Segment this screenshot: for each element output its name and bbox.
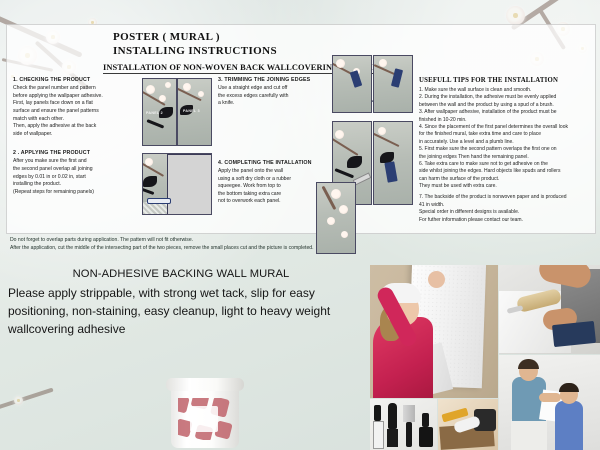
tool-blade bbox=[387, 429, 398, 447]
bird-decor bbox=[347, 156, 362, 168]
step-1-body: Check the panel number and pattern befor… bbox=[13, 85, 146, 138]
tool-handle bbox=[374, 405, 381, 421]
photo-collage bbox=[370, 265, 600, 450]
step-1-line: Then, apply the adhesive at the back bbox=[13, 123, 146, 131]
photo-man-arm bbox=[539, 393, 561, 402]
step-4: 4. COMPLETING THE INTALLATION Apply the … bbox=[218, 160, 330, 206]
step-4-heading: 4. COMPLETING THE INTALLATION bbox=[218, 160, 330, 166]
label-white-band bbox=[190, 406, 218, 432]
column-middle: 3. TRIMMING THE JOINING EDGES Use a stra… bbox=[218, 77, 330, 206]
tip-line: 7. The backside of the product is nonwov… bbox=[419, 194, 599, 201]
mural-art: PANEL 2 bbox=[143, 79, 176, 145]
bird-tail-decor bbox=[146, 119, 164, 129]
tip-line: Special order in different designs is av… bbox=[419, 209, 599, 216]
bucket-label bbox=[178, 398, 232, 440]
gray-panel-overlay bbox=[167, 154, 212, 215]
step-2-body: After you make sure the first and the se… bbox=[13, 158, 146, 196]
mural-art: PANEL 3 bbox=[178, 79, 211, 145]
tool-handle bbox=[422, 413, 429, 427]
tip-line: side whilst joining the edges. Hard obje… bbox=[419, 168, 599, 175]
tip-line: For futher information please contact ou… bbox=[419, 217, 599, 224]
step-2-line: (Repeat steps for remaining panels) bbox=[13, 189, 146, 197]
promo-heading: NON-ADHESIVE BACKING WALL MURAL bbox=[8, 268, 368, 280]
bird-decor bbox=[143, 176, 157, 187]
tip-line: between the wall and the product by usin… bbox=[419, 102, 599, 109]
photo-installation-tools bbox=[370, 399, 437, 450]
branch-decor bbox=[0, 388, 54, 410]
step-4-line: squeegee. Work from top to bbox=[218, 183, 330, 191]
step-4-line: the bottom taking extra care bbox=[218, 191, 330, 199]
step-4-line: Apply the panel onto the wall bbox=[218, 168, 330, 176]
blossom-decor bbox=[331, 189, 341, 199]
tip-5: 5. First make sure the second pattern ov… bbox=[419, 146, 599, 161]
photo-child-torso bbox=[555, 401, 583, 450]
tip-line: finished in 10-20 min. bbox=[419, 117, 599, 124]
sheet-columns: 1. CHECKING THE PRODUCT Check the panel … bbox=[7, 77, 595, 233]
bird-tail-decor bbox=[334, 168, 354, 178]
step-3-heading: 3. TRIMMING THE JOINING EDGES bbox=[218, 77, 330, 83]
panel-label: PANEL 2 bbox=[146, 111, 163, 115]
tip-line: 1. Make sure the wall surface is clean a… bbox=[419, 87, 599, 94]
branch-decor bbox=[332, 136, 358, 156]
tip-line: 5. First make sure the second pattern ov… bbox=[419, 146, 599, 153]
tool-putty-knife-icon bbox=[403, 405, 415, 447]
step-1-line: before applying the wallpaper adhesive. bbox=[13, 93, 146, 101]
step-2-line: edges by 0.01 in or 0.02 in, start bbox=[13, 174, 146, 182]
blossom-decor bbox=[165, 82, 171, 88]
step-1: 1. CHECKING THE PRODUCT Check the panel … bbox=[13, 77, 146, 138]
tip-line: the joining edges Then hand the remainin… bbox=[419, 154, 599, 161]
photo-hands-with-paint-roller bbox=[499, 265, 600, 354]
illustration-applying-product bbox=[142, 153, 212, 215]
promo-line: Please apply strippable, with strong wet… bbox=[8, 284, 368, 302]
step-4-body: Apply the panel onto the wall using a so… bbox=[218, 168, 330, 206]
blossom-decor bbox=[183, 83, 191, 91]
bucket-lid bbox=[166, 378, 244, 391]
blossom-decor bbox=[198, 91, 204, 97]
tool-scraper-icon bbox=[387, 403, 398, 447]
step-4-line: not to overwork each panel. bbox=[218, 198, 330, 206]
tips-heading: USEFULL TIPS FOR THE INSTALLATION bbox=[419, 77, 599, 84]
column-right-tips: USEFULL TIPS FOR THE INSTALLATION 1. Mak… bbox=[419, 77, 599, 224]
bird-tail-decor bbox=[142, 186, 154, 195]
promo-line: positioning, non-staining, easy cleanup,… bbox=[8, 302, 368, 320]
tip-line: 6. Take extra care to make sure not to g… bbox=[419, 161, 599, 168]
photo-paste-kit-and-roller bbox=[438, 399, 498, 450]
illustration-step4-mural bbox=[316, 182, 356, 254]
installation-instruction-sheet: POSTER ( MURAL ) INSTALLING INSTRUCTIONS… bbox=[6, 24, 596, 234]
tip-6: 6. Take extra care to make sure not to g… bbox=[419, 161, 599, 191]
tip-3: 3. After wallpaper adhesive, installatio… bbox=[419, 109, 599, 124]
branch-decor bbox=[373, 132, 399, 147]
blossom-decor bbox=[159, 95, 166, 102]
blossom-decor bbox=[506, 6, 525, 25]
photo-child-hair bbox=[559, 383, 579, 392]
illustration-completing-right bbox=[373, 121, 413, 205]
photo-woman-hand bbox=[428, 271, 445, 288]
blossom-decor bbox=[145, 158, 153, 166]
blossom-decor bbox=[378, 127, 386, 135]
step-3-body: Use a straight edge and cut off the exce… bbox=[218, 85, 330, 108]
tip-line: They must be used with extra care. bbox=[419, 183, 599, 190]
tip-line: 2. During the installation, the adhesive… bbox=[419, 94, 599, 101]
tip-line: for the finished mural, take extra time … bbox=[419, 131, 599, 138]
step-1-line: Check the panel number and pattern bbox=[13, 85, 146, 93]
tip-line: 41 in width. bbox=[419, 202, 599, 209]
photo-woman-hanging-wallcovering bbox=[370, 265, 498, 398]
column-left: 1. CHECKING THE PRODUCT Check the panel … bbox=[13, 77, 146, 197]
tip-line: 3. After wallpaper adhesive, installatio… bbox=[419, 109, 599, 116]
tool-brush-icon bbox=[373, 405, 382, 447]
tool-blade bbox=[403, 405, 415, 422]
label-swatch bbox=[178, 398, 190, 413]
promo-body: Please apply strippable, with strong wet… bbox=[8, 284, 368, 339]
step-2-line: installing the product. bbox=[13, 181, 146, 189]
tip-line: in accurately. Use a level and a plumb l… bbox=[419, 139, 599, 146]
tip-7: 7. The backside of the product is nonwov… bbox=[419, 194, 599, 224]
step-2: 2 . APPLYING THE PRODUCT After you make … bbox=[13, 150, 146, 196]
illustration-panel-2: PANEL 2 bbox=[142, 78, 177, 146]
step-4-line: using a soft dry cloth or a rubber bbox=[218, 176, 330, 184]
blossom-decor bbox=[14, 396, 23, 405]
blossom-decor bbox=[146, 85, 155, 94]
sheet-title-block: POSTER ( MURAL ) INSTALLING INSTRUCTIONS bbox=[7, 31, 595, 57]
sheet-title-line1: POSTER ( MURAL ) bbox=[113, 31, 595, 43]
photo-man-trousers bbox=[511, 419, 547, 450]
blossom-decor bbox=[335, 130, 344, 139]
promo-block: NON-ADHESIVE BACKING WALL MURAL Please a… bbox=[8, 268, 368, 339]
tool-blade bbox=[419, 427, 433, 447]
blossom-decor bbox=[339, 205, 348, 214]
step-2-heading: 2 . APPLYING THE PRODUCT bbox=[13, 150, 146, 156]
panel-label: PANEL 3 bbox=[183, 109, 200, 113]
tip-2: 2. During the installation, the adhesive… bbox=[419, 94, 599, 109]
blossom-decor bbox=[336, 59, 345, 68]
step-2-line: the second panel overlap all joining bbox=[13, 166, 146, 174]
illustration-trim-left bbox=[332, 55, 372, 113]
step-1-line: First, lay panels face down on a flat bbox=[13, 100, 146, 108]
step-1-line: surface and ensure the panel patterns bbox=[13, 108, 146, 116]
step-3-line: Use a straight edge and cut off bbox=[218, 85, 330, 93]
tip-1: 1. Make sure the wall surface is clean a… bbox=[419, 87, 599, 94]
note-line-1: Do not forget to overlap parts during ap… bbox=[10, 236, 590, 244]
note-line-2: After the application, cut the middle of… bbox=[10, 244, 590, 252]
promo-line: wallcovering adhesive bbox=[8, 320, 368, 338]
tip-line: 4. Since the placement of the first pane… bbox=[419, 124, 599, 131]
step-3-line: the excess edges carefully with bbox=[218, 93, 330, 101]
step-1-line: side of wallpaper. bbox=[13, 131, 146, 139]
step-3-line: a knife. bbox=[218, 100, 330, 108]
photo-blue-tool bbox=[552, 321, 596, 347]
blossom-decor bbox=[341, 231, 348, 238]
photo-man-and-child-applying-panel bbox=[499, 355, 600, 450]
step-1-heading: 1. CHECKING THE PRODUCT bbox=[13, 77, 146, 83]
step-1-line: match with each other. bbox=[13, 116, 146, 124]
illustration-panel-3: PANEL 3 bbox=[177, 78, 212, 146]
tool-smoother-icon bbox=[419, 413, 433, 447]
squeegee-tool bbox=[147, 198, 171, 204]
tool-handle bbox=[406, 422, 412, 447]
blossom-decor bbox=[327, 217, 335, 225]
tip-4: 4. Since the placement of the first pane… bbox=[419, 124, 599, 146]
tool-handle bbox=[388, 403, 397, 429]
step-2-line: After you make sure the first and bbox=[13, 158, 146, 166]
mural-art bbox=[317, 183, 355, 253]
tip-line: can harm the surface of the product. bbox=[419, 176, 599, 183]
application-notes: Do not forget to overlap parts during ap… bbox=[10, 236, 590, 253]
tool-blade bbox=[373, 421, 384, 449]
adhesive-paste-bucket bbox=[166, 376, 244, 448]
mural-art bbox=[333, 56, 371, 112]
step-3: 3. TRIMMING THE JOINING EDGES Use a stra… bbox=[218, 77, 330, 108]
blossom-decor bbox=[379, 59, 387, 67]
